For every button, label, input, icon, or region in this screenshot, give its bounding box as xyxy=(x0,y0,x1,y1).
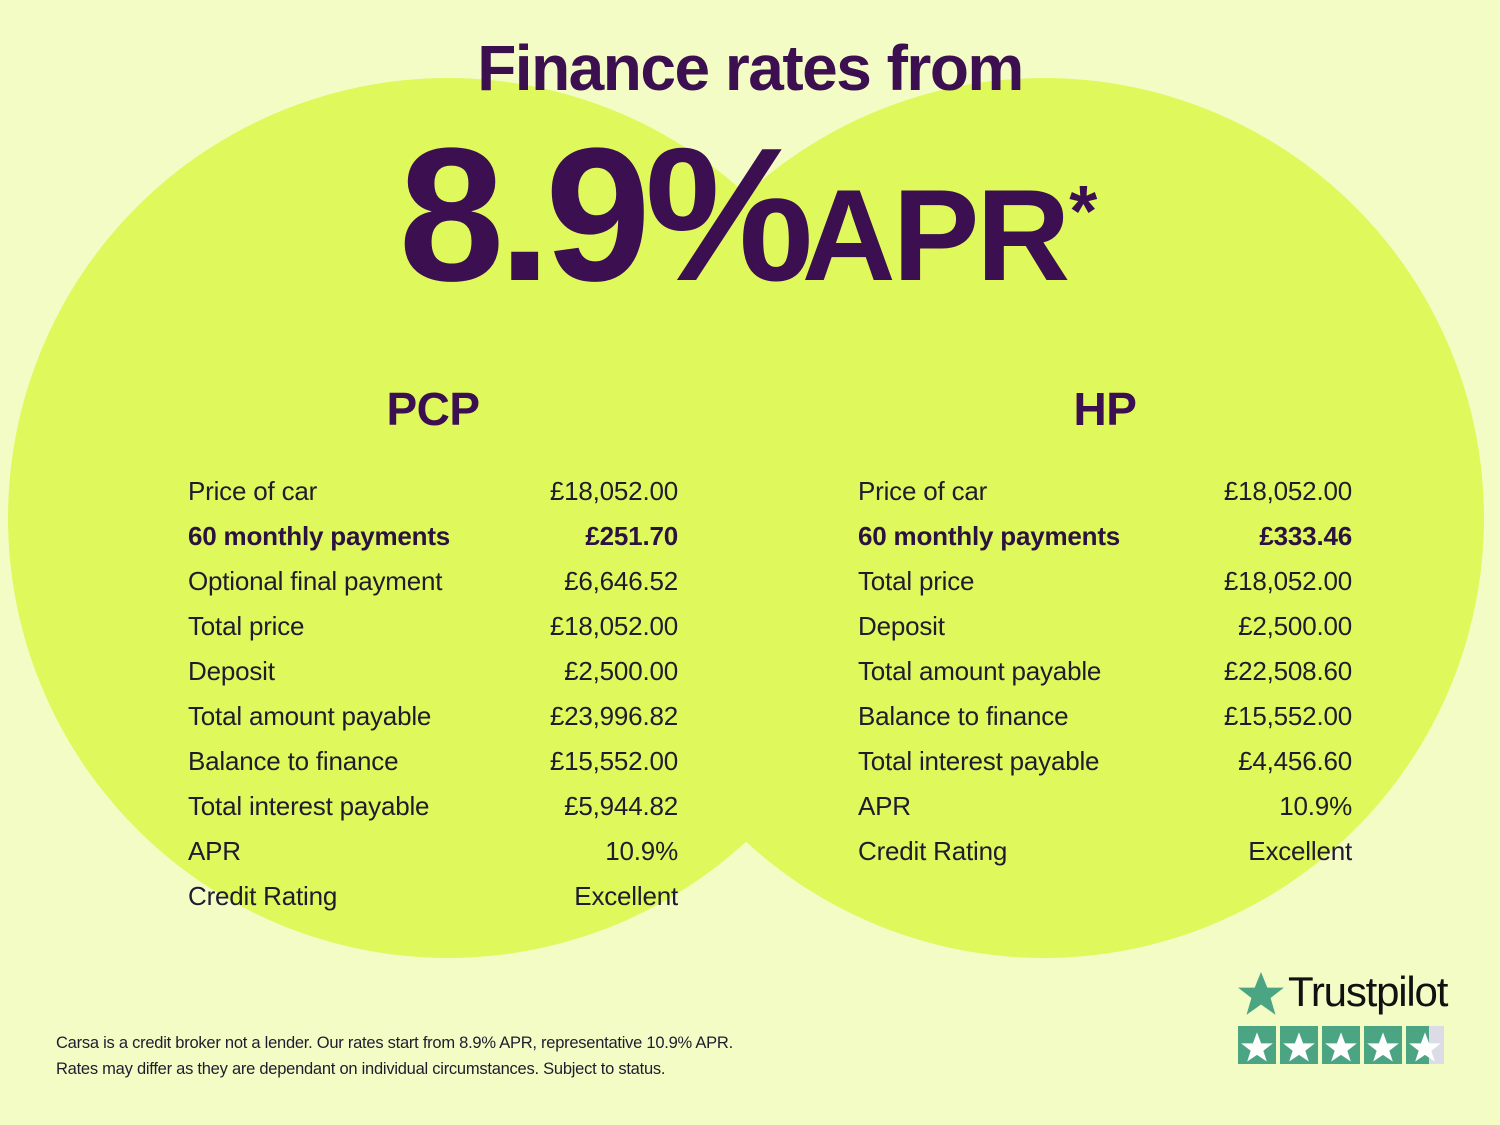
quote-row-label: Total amount payable xyxy=(188,701,431,732)
disclaimer-line-2: Rates may differ as they are dependant o… xyxy=(56,1057,816,1083)
quote-row-label: Credit Rating xyxy=(188,881,337,912)
quote-row-value: £333.46 xyxy=(1259,521,1352,552)
quote-row-label: Credit Rating xyxy=(858,836,1007,867)
quote-row-label: Price of car xyxy=(858,476,987,507)
quote-row: Total price£18,052.00 xyxy=(188,611,678,656)
quote-row: Total price£18,052.00 xyxy=(858,566,1352,611)
quote-title-pcp: PCP xyxy=(188,386,678,432)
quote-row: Balance to finance£15,552.00 xyxy=(858,701,1352,746)
quote-row: Deposit£2,500.00 xyxy=(858,611,1352,656)
quote-row-value: £15,552.00 xyxy=(550,746,678,777)
quote-row: Total interest payable£5,944.82 xyxy=(188,791,678,836)
quote-row: Total amount payable£23,996.82 xyxy=(188,701,678,746)
page-title: Finance rates from xyxy=(0,36,1500,100)
quote-row-value: 10.9% xyxy=(1279,791,1352,822)
rate-value: 8.9% xyxy=(399,109,808,321)
quote-column-pcp: PCP Price of car£18,052.0060 monthly pay… xyxy=(188,386,678,926)
trustpilot-name: Trustpilot xyxy=(1288,971,1447,1013)
headline-rate: 8.9%APR* xyxy=(0,120,1500,310)
quote-column-hp: HP Price of car£18,052.0060 monthly paym… xyxy=(858,386,1352,881)
trustpilot-star-icon xyxy=(1238,972,1284,1016)
quote-row: Deposit£2,500.00 xyxy=(188,656,678,701)
quote-row: 60 monthly payments£251.70 xyxy=(188,521,678,566)
rate-suffix: APR xyxy=(802,162,1067,308)
quote-row-label: APR xyxy=(858,791,911,822)
quote-row-label: Balance to finance xyxy=(858,701,1068,732)
trustpilot-star-icon xyxy=(1280,1026,1318,1064)
quote-row-value: £2,500.00 xyxy=(1238,611,1352,642)
quote-row-value: £15,552.00 xyxy=(1224,701,1352,732)
disclaimer: Carsa is a credit broker not a lender. O… xyxy=(56,1031,816,1082)
quote-row-label: 60 monthly payments xyxy=(188,521,450,552)
quote-row-label: Price of car xyxy=(188,476,317,507)
trustpilot-star-icon xyxy=(1406,1026,1444,1064)
footnote-marker: * xyxy=(1069,172,1097,252)
quote-row-label: Total interest payable xyxy=(858,746,1099,777)
quote-row-label: Total interest payable xyxy=(188,791,429,822)
quote-row-value: £6,646.52 xyxy=(564,566,678,597)
quote-row: Credit RatingExcellent xyxy=(858,836,1352,881)
trustpilot-star-icon xyxy=(1238,1026,1276,1064)
quote-row-value: £4,456.60 xyxy=(1238,746,1352,777)
trustpilot-star-icon xyxy=(1364,1026,1402,1064)
quote-row-label: Optional final payment xyxy=(188,566,442,597)
quote-row-label: Deposit xyxy=(188,656,275,687)
quote-row: Credit RatingExcellent xyxy=(188,881,678,926)
quote-row: Price of car£18,052.00 xyxy=(188,476,678,521)
trustpilot-wordmark: Trustpilot xyxy=(1238,968,1456,1020)
quote-row: APR10.9% xyxy=(188,836,678,881)
quote-row-value: £18,052.00 xyxy=(1224,476,1352,507)
quote-row: APR10.9% xyxy=(858,791,1352,836)
trustpilot-star-rating xyxy=(1238,1026,1456,1064)
quote-row-value: £251.70 xyxy=(585,521,678,552)
quote-row-value: 10.9% xyxy=(605,836,678,867)
quote-row-label: Total price xyxy=(858,566,974,597)
quote-row: Balance to finance£15,552.00 xyxy=(188,746,678,791)
quote-row: Total interest payable£4,456.60 xyxy=(858,746,1352,791)
trustpilot-star-icon xyxy=(1322,1026,1360,1064)
quote-row-label: Balance to finance xyxy=(188,746,398,777)
trustpilot-badge[interactable]: Trustpilot xyxy=(1238,968,1456,1064)
quote-row: Total amount payable£22,508.60 xyxy=(858,656,1352,701)
quote-row-label: Total amount payable xyxy=(858,656,1101,687)
finance-rates-graphic: Finance rates from 8.9%APR* PCP Price of… xyxy=(0,0,1500,1125)
quote-title-hp: HP xyxy=(858,386,1352,432)
quote-row: Optional final payment£6,646.52 xyxy=(188,566,678,611)
quote-row-value: £18,052.00 xyxy=(550,611,678,642)
disclaimer-line-1: Carsa is a credit broker not a lender. O… xyxy=(56,1031,816,1057)
quote-row-label: Total price xyxy=(188,611,304,642)
quote-row-label: Deposit xyxy=(858,611,945,642)
quote-row-value: £18,052.00 xyxy=(1224,566,1352,597)
quote-row-value: £22,508.60 xyxy=(1224,656,1352,687)
quote-row-value: Excellent xyxy=(1248,836,1352,867)
quote-row-label: APR xyxy=(188,836,241,867)
quote-row-value: £18,052.00 xyxy=(550,476,678,507)
quote-rows-pcp: Price of car£18,052.0060 monthly payment… xyxy=(188,476,678,926)
quote-row-value: £23,996.82 xyxy=(550,701,678,732)
quote-row: Price of car£18,052.00 xyxy=(858,476,1352,521)
quote-row-label: 60 monthly payments xyxy=(858,521,1120,552)
quote-row: 60 monthly payments£333.46 xyxy=(858,521,1352,566)
quote-row-value: £2,500.00 xyxy=(564,656,678,687)
quote-row-value: Excellent xyxy=(574,881,678,912)
quote-rows-hp: Price of car£18,052.0060 monthly payment… xyxy=(858,476,1352,881)
quote-row-value: £5,944.82 xyxy=(564,791,678,822)
